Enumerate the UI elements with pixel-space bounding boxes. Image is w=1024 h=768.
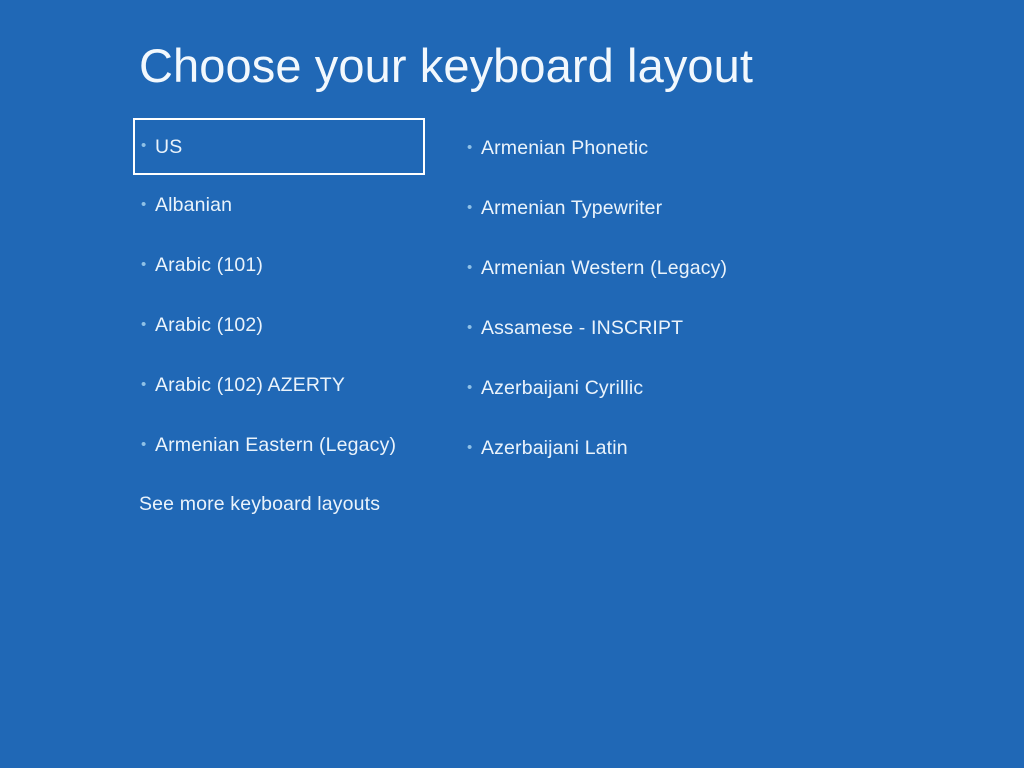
- bullet-icon: •: [141, 197, 155, 212]
- keyboard-layout-option-label: Arabic (102) AZERTY: [155, 373, 345, 397]
- see-more-keyboard-layouts-link[interactable]: See more keyboard layouts: [139, 491, 380, 517]
- keyboard-layout-column-right: •Armenian Phonetic•Armenian Typewriter•A…: [459, 118, 789, 478]
- keyboard-layout-option[interactable]: •Azerbaijani Latin: [459, 418, 789, 478]
- keyboard-layout-option[interactable]: •Armenian Eastern (Legacy): [133, 415, 433, 475]
- keyboard-layout-option[interactable]: •Azerbaijani Cyrillic: [459, 358, 789, 418]
- keyboard-layout-screen: Choose your keyboard layout •US•Albanian…: [0, 0, 1024, 768]
- bullet-icon: •: [141, 437, 155, 452]
- keyboard-layout-option-label: US: [155, 135, 182, 159]
- bullet-icon: •: [467, 440, 481, 455]
- bullet-icon: •: [467, 380, 481, 395]
- bullet-icon: •: [141, 257, 155, 272]
- bullet-icon: •: [141, 377, 155, 392]
- keyboard-layout-option-label: Armenian Eastern (Legacy): [155, 433, 396, 457]
- bullet-icon: •: [141, 317, 155, 332]
- keyboard-layout-option-label: Armenian Typewriter: [481, 196, 662, 220]
- keyboard-layout-column-left: •US•Albanian•Arabic (101)•Arabic (102)•A…: [133, 118, 433, 475]
- keyboard-layout-option-label: Assamese - INSCRIPT: [481, 316, 683, 340]
- page-title: Choose your keyboard layout: [139, 38, 753, 94]
- keyboard-layout-option-label: Azerbaijani Latin: [481, 436, 628, 460]
- keyboard-layout-option[interactable]: •US: [133, 118, 425, 175]
- keyboard-layout-option-label: Armenian Western (Legacy): [481, 256, 727, 280]
- keyboard-layout-option-label: Azerbaijani Cyrillic: [481, 376, 643, 400]
- keyboard-layout-option[interactable]: •Assamese - INSCRIPT: [459, 298, 789, 358]
- bullet-icon: •: [141, 138, 155, 153]
- keyboard-layout-option-label: Arabic (102): [155, 313, 263, 337]
- keyboard-layout-option[interactable]: •Arabic (102) AZERTY: [133, 355, 433, 415]
- bullet-icon: •: [467, 260, 481, 275]
- keyboard-layout-option-label: Armenian Phonetic: [481, 136, 648, 160]
- keyboard-layout-option[interactable]: •Arabic (102): [133, 295, 433, 355]
- keyboard-layout-option[interactable]: •Armenian Western (Legacy): [459, 238, 789, 298]
- keyboard-layout-option[interactable]: •Albanian: [133, 175, 433, 235]
- keyboard-layout-option[interactable]: •Arabic (101): [133, 235, 433, 295]
- bullet-icon: •: [467, 320, 481, 335]
- keyboard-layout-option-label: Arabic (101): [155, 253, 263, 277]
- keyboard-layout-option[interactable]: •Armenian Typewriter: [459, 178, 789, 238]
- bullet-icon: •: [467, 140, 481, 155]
- bullet-icon: •: [467, 200, 481, 215]
- keyboard-layout-option-label: Albanian: [155, 193, 232, 217]
- keyboard-layout-option[interactable]: •Armenian Phonetic: [459, 118, 789, 178]
